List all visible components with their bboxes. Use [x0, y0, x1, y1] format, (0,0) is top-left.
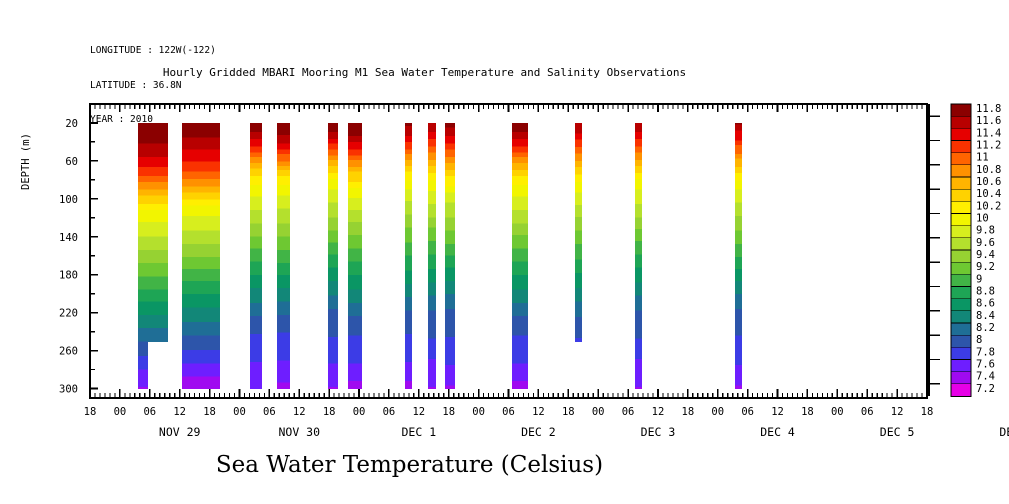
x-tick-label: 18 — [562, 406, 575, 418]
colorbar-tick-label: 11 — [976, 152, 989, 164]
x-tick-label: 18 — [801, 406, 814, 418]
y-tick-label: 220 — [59, 308, 78, 320]
colorbar: 11.811.611.411.21110.810.610.410.2109.89… — [929, 103, 1001, 396]
colorbar-tick-label: 10.4 — [976, 188, 1001, 200]
colorbar-tick-label: 7.8 — [976, 346, 995, 358]
heatmap-column — [328, 123, 338, 389]
colorbar-tick-label: 10 — [976, 213, 989, 225]
y-tick-label: 20 — [65, 118, 78, 130]
colorbar-tick-label: 9.4 — [976, 249, 995, 261]
colorbar-tick-label: 11.8 — [976, 103, 1001, 115]
colorbar-band — [951, 226, 971, 239]
heatmap-column — [635, 123, 642, 389]
x-axis-ticks: 1800061218000612180006121800061218000612… — [84, 104, 1009, 439]
colorbar-band — [951, 165, 971, 178]
colorbar-tick-label: 7.4 — [976, 371, 995, 383]
heatmap-column — [182, 123, 220, 389]
chart-svg: 2060100140180220260300 18000612180006121… — [0, 0, 1009, 504]
x-tick-label: 12 — [652, 406, 665, 418]
colorbar-tick-label: 9.6 — [976, 237, 995, 249]
colorbar-band — [951, 384, 971, 397]
x-tick-label: 00 — [233, 406, 246, 418]
colorbar-band — [951, 262, 971, 275]
y-tick-label: 140 — [59, 232, 78, 244]
x-date-label: DEC 4 — [760, 425, 795, 439]
x-date-label: DEC 1 — [402, 425, 437, 439]
heatmap-column — [575, 123, 582, 342]
colorbar-band — [951, 238, 971, 251]
plot-canvas: LONGITUDE : 122W(-122) LATITUDE : 36.8N … — [0, 0, 1009, 504]
x-tick-label: 06 — [263, 406, 276, 418]
heatmap-column — [445, 123, 455, 389]
heatmap-column — [250, 123, 262, 389]
x-tick-label: 12 — [173, 406, 186, 418]
x-tick-label: 06 — [143, 406, 156, 418]
colorbar-tick-label: 7.2 — [976, 383, 995, 395]
y-tick-label: 260 — [59, 346, 78, 358]
colorbar-tick-label: 9 — [976, 273, 982, 285]
x-date-label: DEC 3 — [641, 425, 676, 439]
heatmap-data-layer — [138, 123, 742, 389]
colorbar-tick-label: 8.2 — [976, 322, 995, 334]
x-tick-label: 12 — [532, 406, 545, 418]
y-tick-label: 60 — [65, 156, 78, 168]
heatmap-column — [428, 123, 436, 389]
colorbar-tick-label: 10.2 — [976, 200, 1001, 212]
colorbar-band — [951, 201, 971, 214]
x-tick-label: 18 — [84, 406, 97, 418]
x-date-label: DEC 6 — [999, 425, 1009, 439]
x-date-label: DEC 5 — [880, 425, 915, 439]
x-tick-label: 06 — [622, 406, 635, 418]
colorbar-band — [951, 214, 971, 227]
x-date-label: DEC 2 — [521, 425, 556, 439]
colorbar-band — [951, 299, 971, 312]
colorbar-band — [951, 372, 971, 385]
x-tick-label: 00 — [711, 406, 724, 418]
colorbar-tick-label: 11.2 — [976, 140, 1001, 152]
x-tick-label: 18 — [921, 406, 934, 418]
colorbar-band — [951, 189, 971, 202]
heatmap-column — [348, 123, 362, 389]
heatmap-column — [405, 123, 412, 389]
x-tick-label: 12 — [293, 406, 306, 418]
x-tick-label: 18 — [323, 406, 336, 418]
x-tick-label: 06 — [502, 406, 515, 418]
x-tick-label: 06 — [383, 406, 396, 418]
colorbar-tick-label: 8.4 — [976, 310, 995, 322]
colorbar-band — [951, 347, 971, 360]
heatmap-column — [735, 123, 742, 389]
colorbar-tick-label: 10.6 — [976, 176, 1001, 188]
colorbar-band — [951, 128, 971, 141]
x-tick-label: 06 — [741, 406, 754, 418]
colorbar-tick-label: 11.6 — [976, 115, 1001, 127]
x-date-label: NOV 29 — [159, 425, 201, 439]
colorbar-tick-label: 10.8 — [976, 164, 1001, 176]
y-axis-ticks: 2060100140180220260300 — [59, 118, 98, 396]
colorbar-band — [951, 335, 971, 348]
colorbar-tick-label: 9.2 — [976, 261, 995, 273]
x-tick-label: 00 — [831, 406, 844, 418]
heatmap-column — [277, 123, 290, 389]
x-tick-label: 18 — [682, 406, 695, 418]
y-tick-label: 180 — [59, 270, 78, 282]
colorbar-band — [951, 116, 971, 129]
chart-caption: Sea Water Temperature (Celsius) — [0, 452, 1009, 478]
x-tick-label: 12 — [891, 406, 904, 418]
x-tick-label: 18 — [203, 406, 216, 418]
x-tick-label: 06 — [861, 406, 874, 418]
colorbar-band — [951, 274, 971, 287]
colorbar-tick-label: 7.6 — [976, 359, 995, 371]
colorbar-band — [951, 177, 971, 190]
colorbar-band — [951, 141, 971, 154]
colorbar-tick-label: 8 — [976, 334, 982, 346]
colorbar-band — [951, 311, 971, 324]
colorbar-tick-label: 8.6 — [976, 298, 995, 310]
x-tick-label: 00 — [353, 406, 366, 418]
colorbar-band — [951, 360, 971, 373]
colorbar-band — [951, 250, 971, 263]
x-tick-label: 12 — [412, 406, 425, 418]
colorbar-band — [951, 287, 971, 300]
x-tick-label: 00 — [592, 406, 605, 418]
x-tick-label: 18 — [442, 406, 455, 418]
x-tick-label: 12 — [771, 406, 784, 418]
x-tick-label: 00 — [472, 406, 485, 418]
x-tick-label: 00 — [114, 406, 127, 418]
colorbar-band — [951, 153, 971, 166]
colorbar-tick-label: 9.8 — [976, 225, 995, 237]
colorbar-band — [951, 323, 971, 336]
colorbar-tick-label: 11.4 — [976, 127, 1001, 139]
heatmap-column — [512, 123, 528, 389]
y-tick-label: 300 — [59, 384, 78, 396]
colorbar-band — [951, 104, 971, 117]
colorbar-tick-label: 8.8 — [976, 286, 995, 298]
heatmap-column — [138, 123, 168, 389]
x-date-label: NOV 30 — [278, 425, 320, 439]
y-tick-label: 100 — [59, 194, 78, 206]
